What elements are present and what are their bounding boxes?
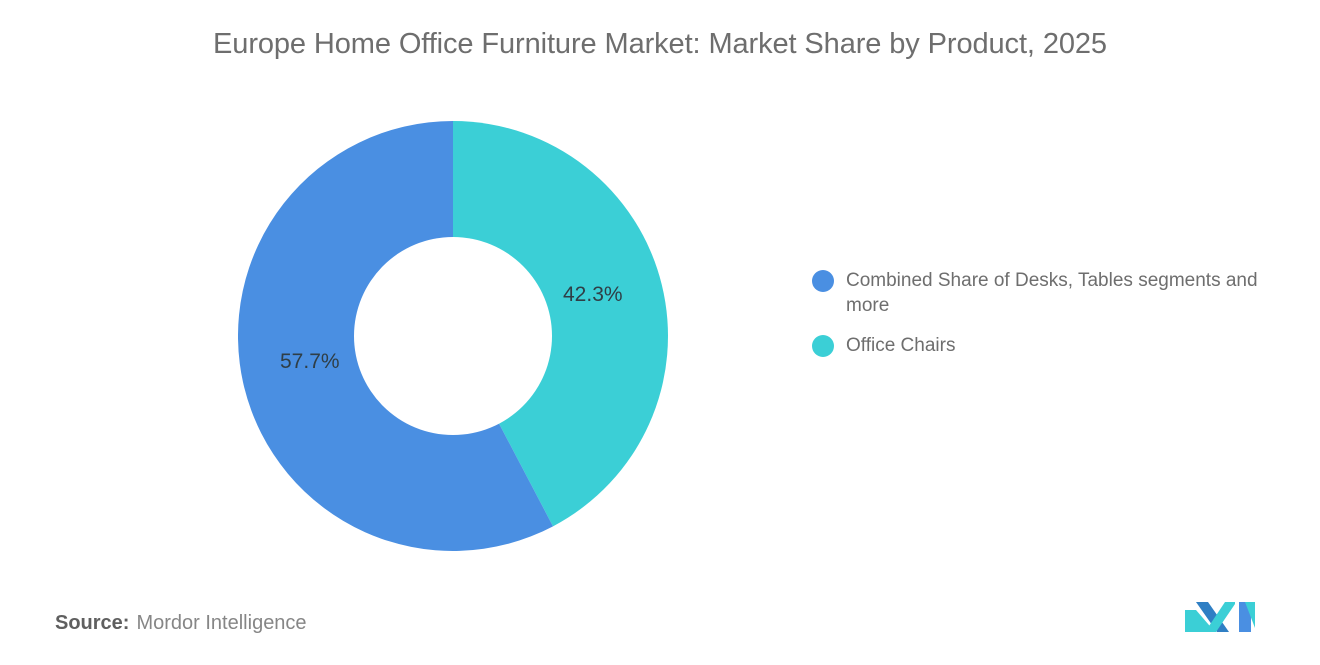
- donut-hole: [354, 237, 552, 435]
- slice-label-office-chairs: 42.3%: [563, 283, 623, 307]
- source-value: Mordor Intelligence: [136, 612, 306, 634]
- legend-item-office-chairs[interactable]: Office Chairs: [812, 333, 1292, 358]
- slice-label-combined-share: 57.7%: [280, 350, 340, 374]
- chart-title: Europe Home Office Furniture Market: Mar…: [0, 28, 1320, 61]
- legend-item-combined-share[interactable]: Combined Share of Desks, Tables segments…: [812, 268, 1292, 319]
- legend-label-office-chairs: Office Chairs: [846, 333, 955, 358]
- legend-swatch-teal-icon: [812, 335, 834, 357]
- logo-svg: [1183, 598, 1257, 634]
- source-line: Source:Mordor Intelligence: [55, 612, 307, 635]
- donut-chart: 57.7% 42.3%: [238, 121, 668, 551]
- source-label: Source:: [55, 612, 129, 634]
- chart-legend: Combined Share of Desks, Tables segments…: [812, 268, 1292, 372]
- legend-label-combined-share: Combined Share of Desks, Tables segments…: [846, 268, 1292, 319]
- mordor-intelligence-logo-icon: [1183, 598, 1257, 634]
- legend-swatch-blue-icon: [812, 270, 834, 292]
- donut-chart-svg: [238, 121, 668, 551]
